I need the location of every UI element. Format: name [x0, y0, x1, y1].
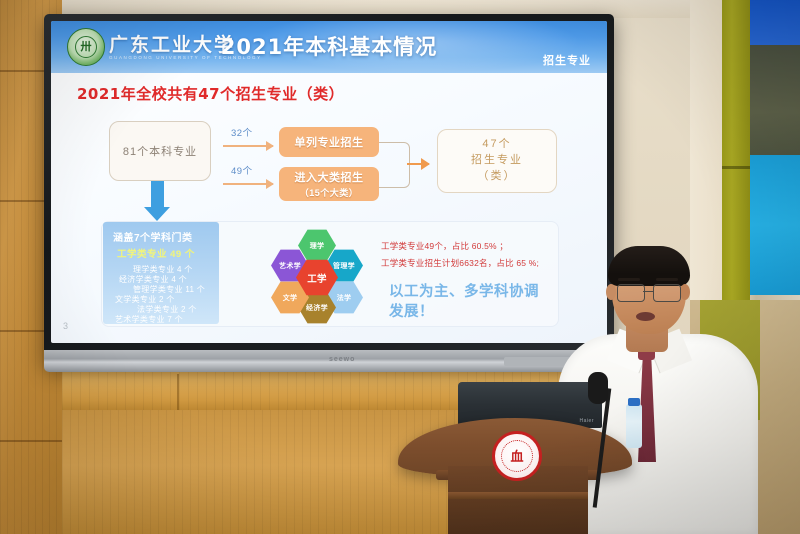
- disciplines-panel: 涵盖7个学科门类 工学类专业 49 个 理学类专业 4 个 经济学类专业 4 个…: [103, 222, 219, 324]
- flow-down-arrow: [151, 181, 164, 207]
- slide-slogan: 以工为主、多学科协调发展！: [389, 283, 549, 322]
- emblem-glyph: 血: [501, 440, 533, 472]
- eyeglasses-lens-right: [653, 284, 681, 302]
- speaker-eyebrow-right: [656, 278, 678, 281]
- water-bottle: [626, 404, 642, 448]
- stat-line-2: 工学类专业招生计划6632名，占比 65 %;: [381, 257, 539, 269]
- flow-result-box: 47个 招生专业 （类）: [437, 129, 557, 193]
- flow-target-box-2: 进入大类招生 （15个大类）: [279, 167, 379, 201]
- podium-university-emblem-icon: 血: [492, 431, 542, 481]
- slide-page-number: 3: [63, 321, 68, 331]
- laptop-brand-label: Haier: [580, 418, 594, 424]
- result-line3: （类）: [478, 169, 517, 185]
- flow-source-box: 81个本科专业: [109, 121, 211, 181]
- disciplines-title: 涵盖7个学科门类: [113, 229, 193, 244]
- lecture-room-scene: 卅 广东工业大学 GUANGDONG UNIVERSITY OF TECHNOL…: [0, 0, 800, 534]
- flow-target-2-line2: （15个大类）: [300, 186, 359, 199]
- water-bottle-cap: [628, 398, 640, 406]
- eyeglasses-bridge: [643, 291, 653, 292]
- flow-edge-label-32: 32个: [231, 125, 253, 139]
- stat-line-1: 工学类专业49个，占比 60.5% ；: [381, 240, 508, 252]
- presentation-slide: 卅 广东工业大学 GUANGDONG UNIVERSITY OF TECHNOL…: [51, 21, 607, 343]
- discipline-item-5: 艺术学类专业 7 个: [115, 314, 183, 325]
- blue-panel-mid: [750, 155, 800, 295]
- eyeglasses-lens-left: [617, 284, 645, 302]
- speaker-ear-left: [606, 284, 616, 300]
- display-brand-label: seewo: [329, 356, 355, 363]
- flow-arrow-bottom: [223, 183, 273, 185]
- microphone-head: [588, 372, 608, 404]
- result-line1: 47个: [482, 137, 511, 153]
- slide-subtitle: 2021年全校共有47个招生专业（类）: [77, 83, 344, 104]
- result-line2: 招生专业: [471, 153, 523, 169]
- slide-title: 2021年本科基本情况: [51, 31, 607, 61]
- dark-panel: [750, 45, 800, 157]
- interactive-flat-panel-display: 卅 广东工业大学 GUANGDONG UNIVERSITY OF TECHNOL…: [44, 14, 614, 366]
- speaker-ear-right: [680, 284, 690, 300]
- flow-target-2-line1: 进入大类招生: [295, 169, 364, 185]
- slide-section-label: 招生专业: [543, 52, 591, 68]
- disciplines-highlight: 工学类专业 49 个: [117, 246, 195, 260]
- flow-merge-connector: [379, 142, 410, 188]
- podium-step-lower: [448, 492, 588, 499]
- speaker-eyebrow-left: [618, 278, 640, 281]
- display-screen: 卅 广东工业大学 GUANGDONG UNIVERSITY OF TECHNOL…: [51, 21, 607, 343]
- speaker-mouth: [636, 312, 655, 321]
- discipline-hexagon-cluster: 理学 管理学 法学 经济学 文学 艺术学 工学: [269, 229, 365, 323]
- flow-target-1-line1: 单列专业招生: [295, 134, 364, 150]
- flow-edge-label-49: 49个: [231, 163, 253, 177]
- flow-arrow-top: [223, 145, 273, 147]
- flow-arrow-result: [407, 163, 429, 165]
- flow-target-box-1: 单列专业招生: [279, 127, 379, 157]
